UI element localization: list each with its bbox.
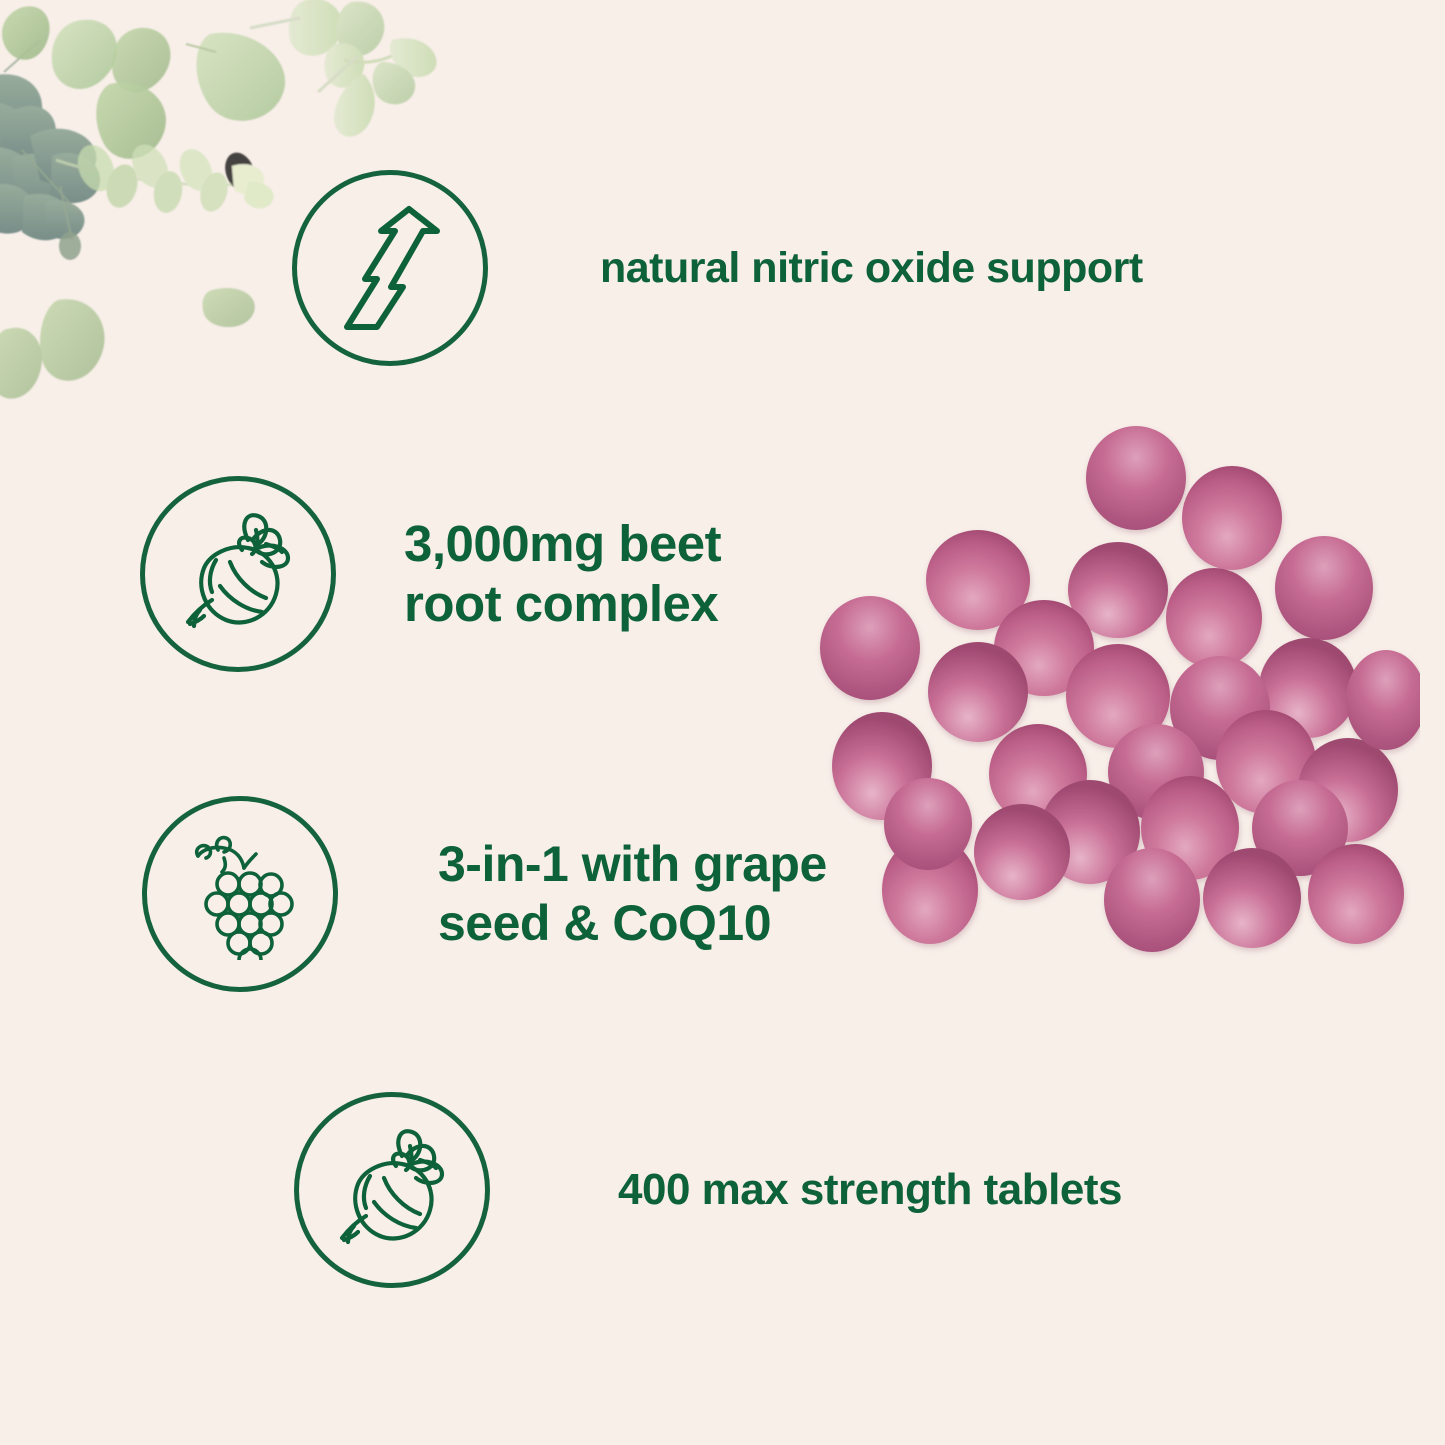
feature-label: 3-in-1 with grape seed & CoQ10 bbox=[438, 835, 827, 953]
feature-row-grape-seed: 3-in-1 with grape seed & CoQ10 bbox=[142, 796, 827, 992]
feature-row-nitric-oxide: natural nitric oxide support bbox=[292, 170, 1143, 366]
feature-row-beet-root: 3,000mg beet root complex bbox=[140, 476, 721, 672]
upward-zigzag-arrow-icon bbox=[292, 170, 488, 366]
feature-label: 400 max strength tablets bbox=[618, 1164, 1122, 1216]
beet-root-icon bbox=[140, 476, 336, 672]
grape-bunch-icon bbox=[142, 796, 338, 992]
feature-row-tablet-count: 400 max strength tablets bbox=[294, 1092, 1122, 1288]
infographic-page: natural nitric oxide support bbox=[0, 0, 1445, 1445]
tablets bbox=[820, 426, 1420, 952]
feature-label: natural nitric oxide support bbox=[600, 243, 1143, 294]
beet-root-tablets-pile bbox=[800, 400, 1420, 960]
feature-label: 3,000mg beet root complex bbox=[404, 514, 721, 634]
beet-root-icon bbox=[294, 1092, 490, 1288]
